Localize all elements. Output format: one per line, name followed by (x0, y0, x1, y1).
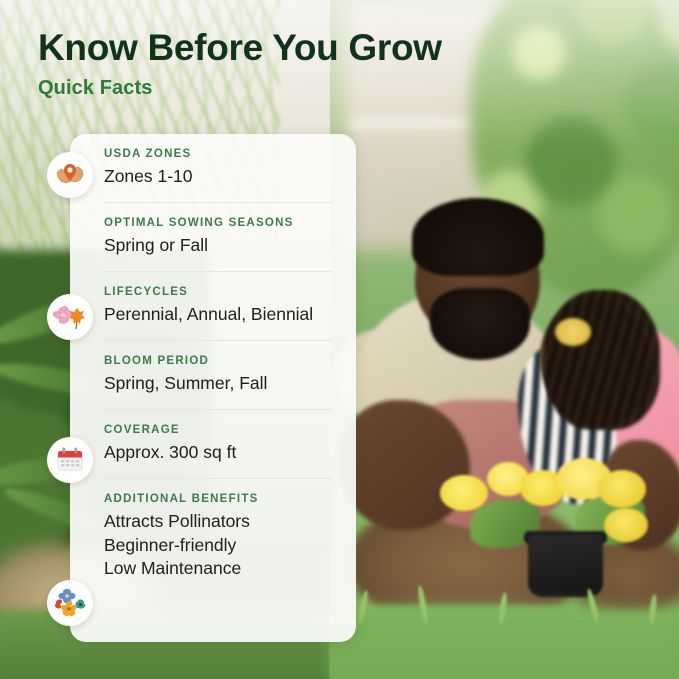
fact-value: Perennial, Annual, Biennial (104, 303, 338, 326)
fact-row-bloom-period: BLOOM PERIOD Spring, Summer, Fall (70, 340, 356, 409)
fact-value: Spring, Summer, Fall (104, 372, 338, 395)
fact-row-additional-benefits: ADDITIONAL BENEFITS Attracts Pollinators… (70, 478, 356, 593)
fact-row-lifecycles: LIFECYCLES Perennial, Annual, Biennial (70, 271, 356, 340)
usda-map-pin-icon (47, 152, 93, 198)
fact-label: LIFECYCLES (104, 286, 338, 298)
photo-child-braids (545, 290, 660, 430)
photo-yellow-flower (604, 508, 648, 542)
fact-row-usda-zones: USDA ZONES Zones 1-10 (70, 134, 356, 202)
page-title: Know Before You Grow (38, 28, 442, 69)
page-subtitle: Quick Facts (38, 77, 442, 100)
photo-child-hairtie (555, 318, 591, 346)
photo-flower-pot (528, 535, 603, 597)
photo-man-arm (340, 400, 470, 530)
header: Know Before You Grow Quick Facts (38, 28, 442, 100)
photo-yellow-flower (440, 475, 488, 511)
fact-row-sowing-seasons: OPTIMAL SOWING SEASONS Spring or Fall (70, 202, 356, 271)
fact-label: BLOOM PERIOD (104, 355, 338, 367)
fact-label: OPTIMAL SOWING SEASONS (104, 217, 338, 229)
fact-value: Approx. 300 sq ft (104, 441, 338, 464)
fact-row-coverage: COVERAGE Approx. 300 sq ft (70, 409, 356, 478)
fact-label: USDA ZONES (104, 148, 338, 160)
fact-label: COVERAGE (104, 424, 338, 436)
fact-value: Zones 1-10 (104, 165, 338, 188)
infographic-stage: Know Before You Grow Quick Facts USDA ZO… (0, 0, 679, 679)
fact-value: Spring or Fall (104, 234, 338, 257)
photo-man-beard (430, 288, 530, 360)
fact-value: Attracts Pollinators Beginner-friendly L… (104, 510, 338, 579)
photo-man-hair (412, 198, 544, 276)
quick-facts-rows: USDA ZONES Zones 1-10 (70, 134, 356, 594)
photo-yellow-flower (598, 470, 646, 508)
photo-lawn-foreground-blur (330, 600, 679, 679)
fact-label: ADDITIONAL BENEFITS (104, 493, 338, 505)
